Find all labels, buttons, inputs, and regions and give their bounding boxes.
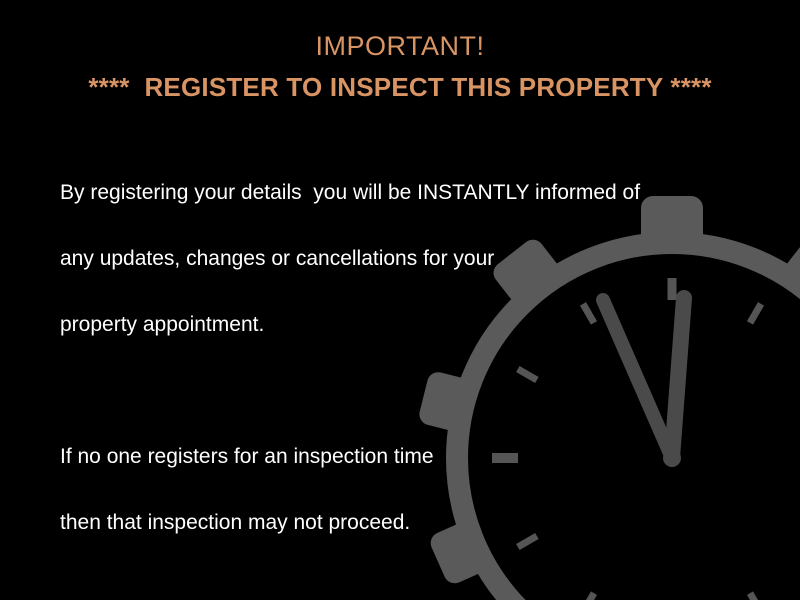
paragraph2-line2: then that inspection may not proceed. <box>60 508 740 538</box>
paragraph-spacer-2 <box>60 574 740 600</box>
paragraph1-line2: any updates, changes or cancellations fo… <box>60 244 740 274</box>
slide-canvas: IMPORTANT! **** REGISTER TO INSPECT THIS… <box>0 0 800 600</box>
heading-register-to-inspect: **** REGISTER TO INSPECT THIS PROPERTY *… <box>0 70 800 104</box>
paragraph-no-registration-warning: If no one registers for an inspection ti… <box>60 406 740 574</box>
paragraph1-line3: property appointment. <box>60 310 740 340</box>
paragraph-spacer-1 <box>60 376 740 406</box>
paragraph1-line1: By registering your details you will be … <box>60 178 740 208</box>
paragraph-registering-details: By registering your details you will be … <box>60 142 740 376</box>
paragraph2-line1: If no one registers for an inspection ti… <box>60 442 740 472</box>
heading-important: IMPORTANT! <box>0 28 800 64</box>
heading-block: IMPORTANT! **** REGISTER TO INSPECT THIS… <box>0 28 800 104</box>
body-block: By registering your details you will be … <box>60 142 740 600</box>
